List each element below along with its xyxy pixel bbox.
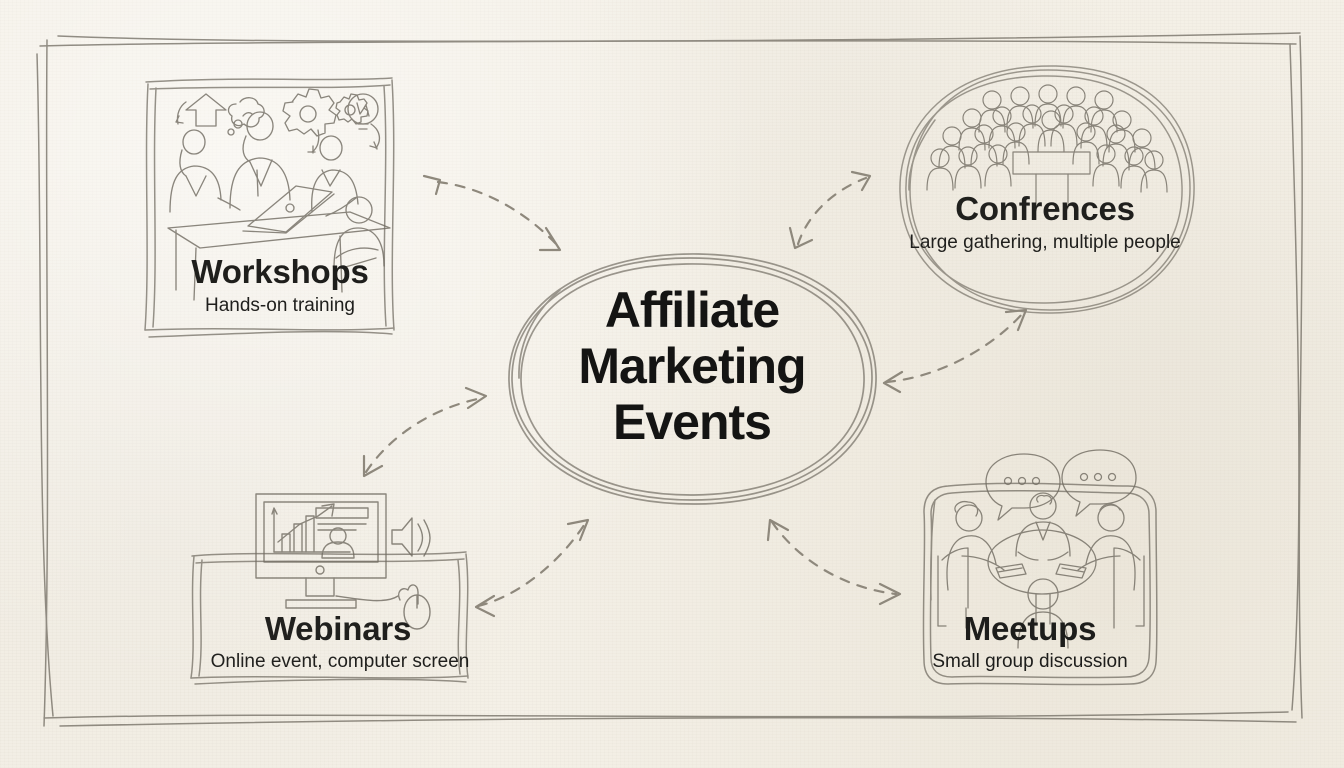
connector-confrences-center: [790, 172, 870, 248]
diagram-canvas: Affiliate Marketing Events Workshops Han…: [0, 0, 1344, 768]
node-title-confrences[interactable]: Confrences: [880, 192, 1210, 225]
node-title-meetups[interactable]: Meetups: [910, 612, 1150, 645]
node-subtitle-webinars: Online event, computer screen: [160, 652, 520, 673]
node-subtitle-meetups: Small group discussion: [900, 652, 1160, 673]
node-subtitle-confrences: Large gathering, multiple people: [860, 233, 1230, 254]
connector-center-meetups: [768, 520, 900, 604]
center-node-title: Affiliate Marketing Events: [472, 282, 912, 450]
node-subtitle-workshops: Hands-on training: [120, 296, 440, 317]
connector-center-webinars: [476, 520, 588, 616]
node-title-webinars[interactable]: Webinars: [178, 612, 498, 645]
center-title-line-1: Affiliate: [472, 282, 912, 338]
node-title-workshops[interactable]: Workshops: [120, 255, 440, 288]
connector-workshops-center: [424, 176, 560, 250]
connector-webinars-center: [364, 388, 486, 476]
center-title-line-3: Events: [472, 394, 912, 450]
center-title-line-2: Marketing: [472, 338, 912, 394]
